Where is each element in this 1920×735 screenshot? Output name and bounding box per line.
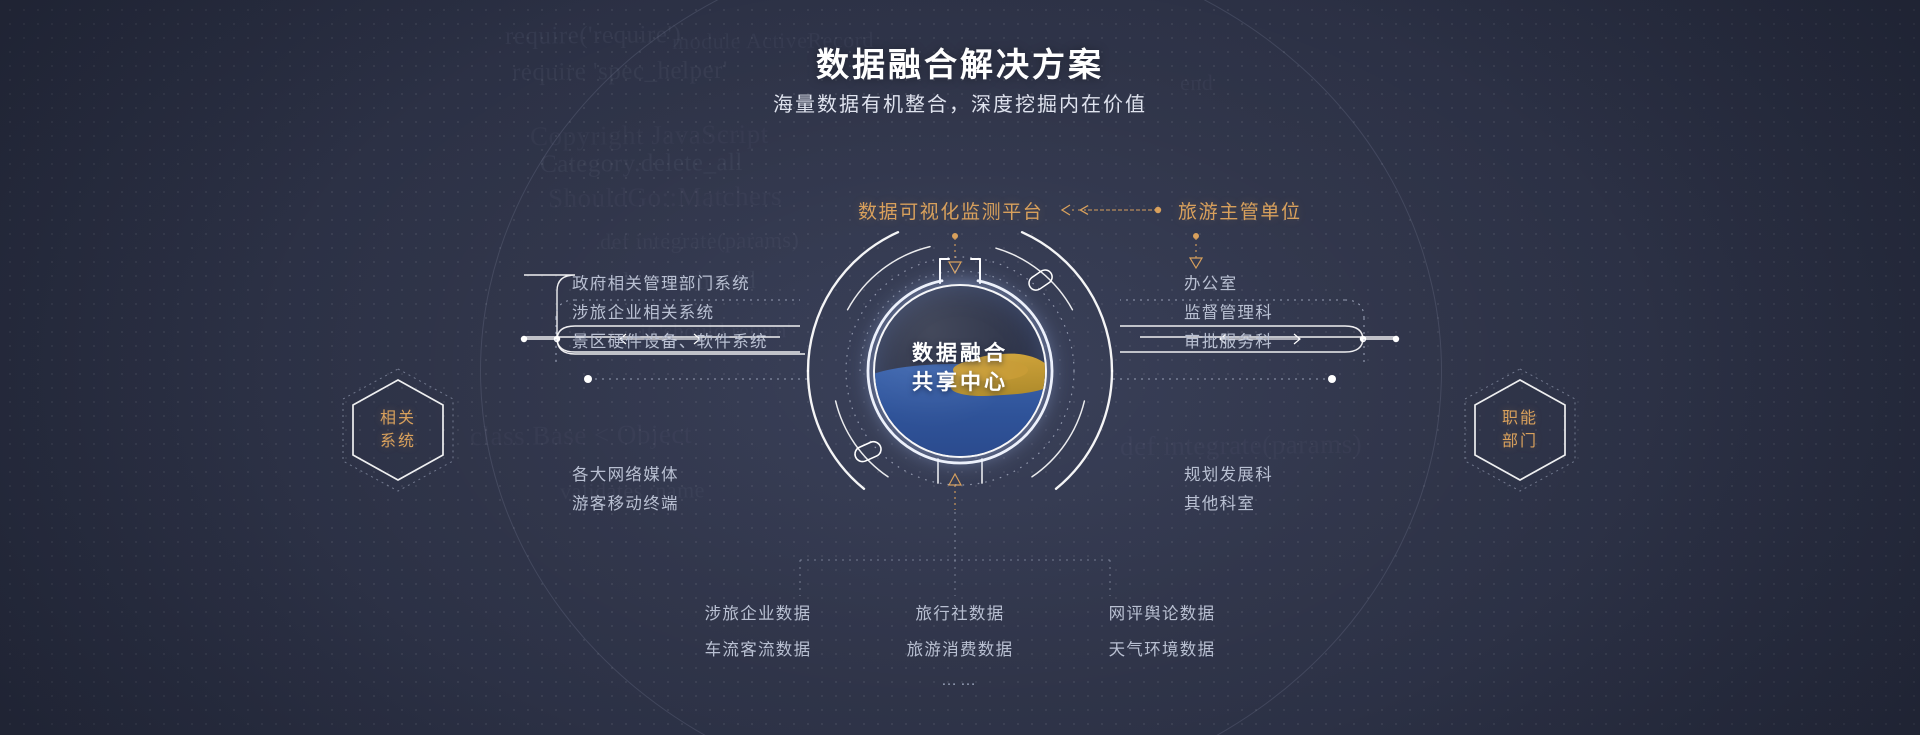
list-item: 涉旅企业相关系统 <box>572 299 768 328</box>
page-subtitle: 海量数据有机整合，深度挖掘内在价值 <box>0 88 1920 117</box>
list-item: 旅游消费数据 <box>886 636 1034 660</box>
list-item: 各大网络媒体 <box>572 461 679 490</box>
data-sphere: 数据融合 共享中心 <box>875 286 1045 456</box>
left-top-source-list: 政府相关管理部门系统 涉旅企业相关系统 景区硬件设备、软件系统 <box>572 270 768 357</box>
node-left-line2: 系统 <box>380 430 416 453</box>
right-top-department-list: 办公室 监督管理科 审批服务科 <box>1184 270 1273 357</box>
list-item: 其他科室 <box>1184 490 1273 519</box>
sphere-label-line1: 数据融合 <box>875 340 1045 369</box>
bottom-data-row-1: 涉旅企业数据 旅行社数据 网评舆论数据 <box>0 600 1920 624</box>
list-item: 车流客流数据 <box>684 636 832 660</box>
list-item: 景区硬件设备、软件系统 <box>572 328 768 357</box>
list-item: 政府相关管理部门系统 <box>572 270 768 299</box>
bottom-data-sources: 涉旅企业数据 旅行社数据 网评舆论数据 车流客流数据 旅游消费数据 天气环境数据… <box>0 600 1920 690</box>
list-item: 天气环境数据 <box>1088 636 1236 660</box>
central-hub: 数据融合 共享中心 <box>662 196 1258 596</box>
label-visualization-platform[interactable]: 数据可视化监测平台 <box>858 197 1043 224</box>
bottom-ellipsis: …… <box>0 672 1920 690</box>
list-item: 旅行社数据 <box>886 600 1034 624</box>
list-item: 监督管理科 <box>1184 299 1273 328</box>
right-bottom-department-list: 规划发展科 其他科室 <box>1184 461 1273 519</box>
sphere-label-line2: 共享中心 <box>875 369 1045 398</box>
label-tourism-authority[interactable]: 旅游主管单位 <box>1178 197 1302 224</box>
node-right-functional-departments[interactable]: 职能 部门 <box>1460 366 1580 494</box>
node-right-line2: 部门 <box>1502 430 1538 453</box>
node-right-line1: 职能 <box>1502 407 1538 430</box>
infographic-stage: require('require') module ActiveRecord r… <box>0 0 1920 735</box>
list-item: 规划发展科 <box>1184 461 1273 490</box>
node-left-related-systems[interactable]: 相关 系统 <box>338 366 458 494</box>
left-bottom-source-list: 各大网络媒体 游客移动终端 <box>572 461 679 519</box>
list-item: 游客移动终端 <box>572 490 679 519</box>
node-left-line1: 相关 <box>380 407 416 430</box>
page-title: 数据融合解决方案 <box>0 38 1920 86</box>
list-item: 网评舆论数据 <box>1088 600 1236 624</box>
node-left-label: 相关 系统 <box>338 366 458 494</box>
bottom-data-row-2: 车流客流数据 旅游消费数据 天气环境数据 <box>0 636 1920 660</box>
node-right-label: 职能 部门 <box>1460 366 1580 494</box>
list-item: 涉旅企业数据 <box>684 600 832 624</box>
list-item: 审批服务科 <box>1184 328 1273 357</box>
sphere-label: 数据融合 共享中心 <box>875 340 1045 398</box>
list-item: 办公室 <box>1184 270 1273 299</box>
